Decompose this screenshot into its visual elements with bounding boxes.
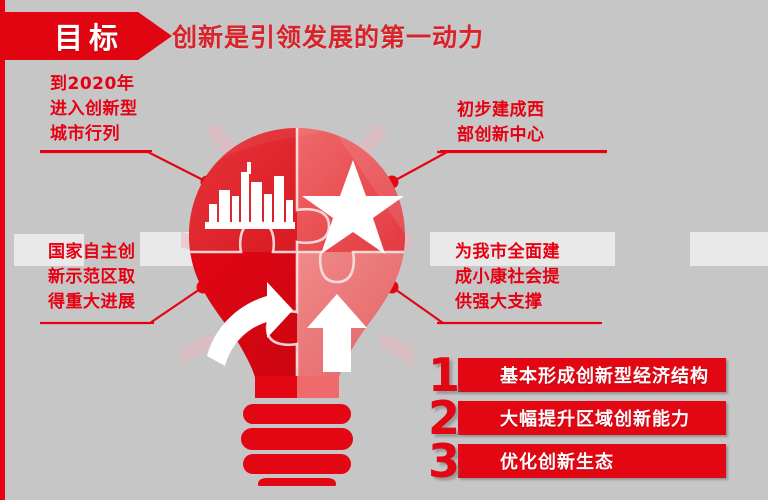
header: 目标 创新是引领发展的第一动力: [0, 12, 768, 60]
numbered-item-bar: 优化创新生态: [458, 444, 726, 478]
callout-underline-top-right: [440, 150, 607, 152]
page-title: 创新是引领发展的第一动力: [172, 16, 484, 56]
callout-line: 供强大支撑: [455, 290, 560, 315]
callout-line: 城市行列: [50, 122, 138, 147]
left-edge-stripe: [0, 0, 5, 500]
callout-line: 成小康社会提: [455, 265, 560, 290]
callout-line: 进入创新型: [50, 97, 138, 122]
lightbulb-graphic: [181, 126, 413, 486]
callout-underline-top-left: [40, 150, 152, 152]
numbered-item-2: 大幅提升区域创新能力 2: [428, 401, 728, 437]
callout-line: 部创新中心: [457, 123, 545, 148]
numbered-item-label: 基本形成创新型经济结构: [458, 362, 709, 388]
header-badge-label: 目标: [48, 15, 124, 57]
callout-line: 国家自主创: [48, 240, 136, 265]
numbered-goal-list: 基本形成创新型经济结构 1 大幅提升区域创新能力 2 优化创新生态 3: [428, 358, 728, 487]
callout-underline-bottom-right: [437, 322, 602, 324]
numbered-item-number: 3: [428, 438, 460, 484]
callout-line: 为我市全面建: [455, 240, 560, 265]
bulb-base: [241, 376, 353, 486]
numbered-item-3: 优化创新生态 3: [428, 444, 728, 480]
infographic-canvas: 目标 创新是引领发展的第一动力: [0, 0, 768, 500]
header-badge: 目标: [0, 12, 172, 60]
callout-line: 初步建成西: [457, 98, 545, 123]
callout-line: 新示范区取: [48, 265, 136, 290]
numbered-item-bar: 大幅提升区域创新能力: [458, 401, 726, 435]
bulb-body: [181, 126, 413, 486]
background-block-4: [690, 232, 768, 266]
callout-top-left: 到2020年 进入创新型 城市行列: [50, 72, 138, 147]
numbered-item-1: 基本形成创新型经济结构 1: [428, 358, 728, 394]
callout-underline-bottom-left: [40, 322, 154, 324]
numbered-item-label: 优化创新生态: [458, 448, 614, 474]
numbered-item-label: 大幅提升区域创新能力: [458, 405, 690, 431]
numbered-item-bar: 基本形成创新型经济结构: [458, 358, 726, 392]
callout-line: 得重大进展: [48, 290, 136, 315]
callout-top-right: 初步建成西 部创新中心: [457, 98, 545, 148]
callout-bottom-right: 为我市全面建 成小康社会提 供强大支撑: [455, 240, 560, 315]
callout-line: 到2020年: [50, 72, 138, 97]
callout-bottom-left: 国家自主创 新示范区取 得重大进展: [48, 240, 136, 315]
